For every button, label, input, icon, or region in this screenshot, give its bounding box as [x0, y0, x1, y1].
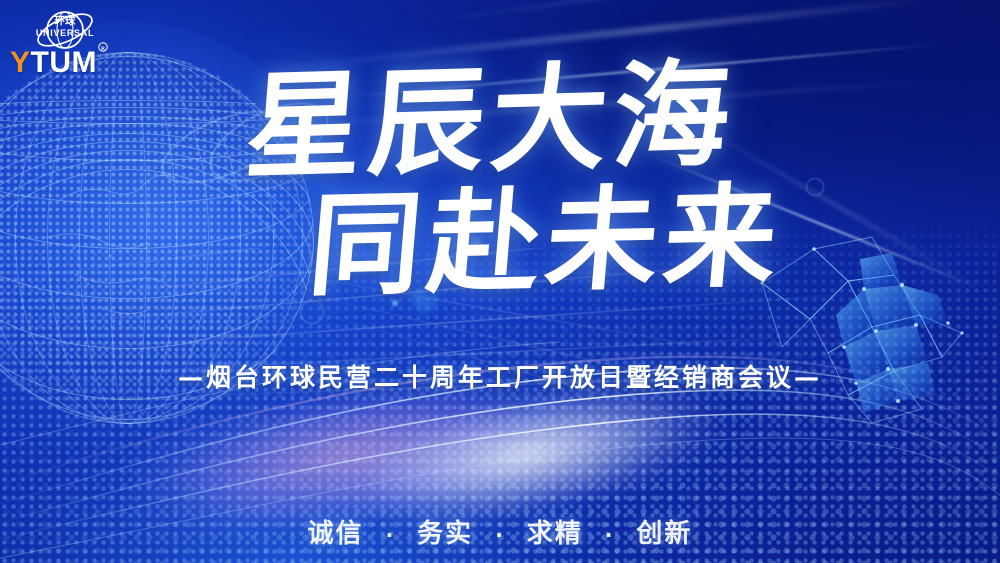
ytum-wordmark: YTUM	[10, 48, 97, 78]
emblem-en-text: UNIVERSAL	[36, 28, 94, 38]
low-poly-runner-figure	[752, 223, 982, 433]
bokeh-glow	[412, 286, 438, 312]
registered-mark-icon: R	[99, 43, 108, 52]
bokeh-speck	[392, 300, 398, 306]
slogan-word-1: 诚信	[308, 513, 364, 550]
slogan-word-4: 创新	[636, 513, 692, 550]
slogan-word-3: 求精	[527, 513, 583, 550]
slogan-separator: ·	[386, 523, 396, 547]
slogan-separator: ·	[605, 523, 615, 547]
wordmark-y: Y	[10, 46, 31, 79]
wordmark-tum: TUM	[31, 46, 97, 79]
company-logo[interactable]: 环球 UNIVERSAL R YTUM	[8, 4, 132, 88]
bokeh-ring	[806, 178, 824, 196]
slogan-separator: ·	[495, 523, 505, 547]
event-banner: 环球 UNIVERSAL R YTUM 星辰大海 同赴未来 —烟台环球民营二十周…	[0, 0, 1000, 563]
bokeh-speck	[742, 216, 747, 221]
bokeh-ring	[300, 300, 324, 324]
event-subtitle: —烟台环球民营二十周年工厂开放日暨经销商会议—	[0, 358, 1000, 394]
corporate-slogan: 诚信·务实·求精·创新	[0, 513, 1000, 550]
slogan-word-2: 务实	[417, 513, 473, 550]
emblem-cn-text: 环球	[55, 14, 76, 27]
bokeh-speck	[470, 238, 481, 249]
